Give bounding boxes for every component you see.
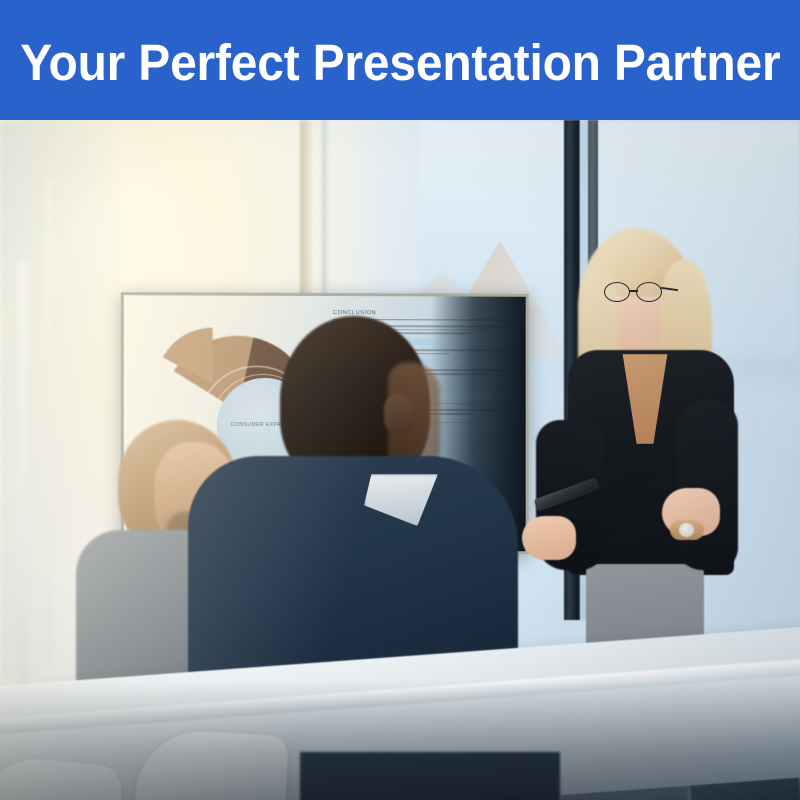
glasses-temple xyxy=(661,287,678,291)
glasses-icon xyxy=(604,282,676,302)
glasses-lens-right xyxy=(636,282,662,302)
attendee2-ear xyxy=(384,394,414,434)
presenter-arm-right xyxy=(676,400,738,570)
banner: Your Perfect Presentation Partner xyxy=(0,0,800,120)
glass-reflection-streak xyxy=(18,260,27,690)
wristwatch xyxy=(670,520,704,540)
photo-scene: CONSUMER EXPANSION 22% CONCLUSION xyxy=(0,120,800,800)
banner-title: Your Perfect Presentation Partner xyxy=(20,33,780,88)
glasses-lens-left xyxy=(604,282,630,302)
bottom-shadow xyxy=(0,680,800,800)
presenter-hand-left xyxy=(522,516,576,560)
poster-page: Your Perfect Presentation Partner xyxy=(0,0,800,800)
glass-reflection-streak-2 xyxy=(46,180,52,660)
glasses-bridge xyxy=(629,290,638,292)
